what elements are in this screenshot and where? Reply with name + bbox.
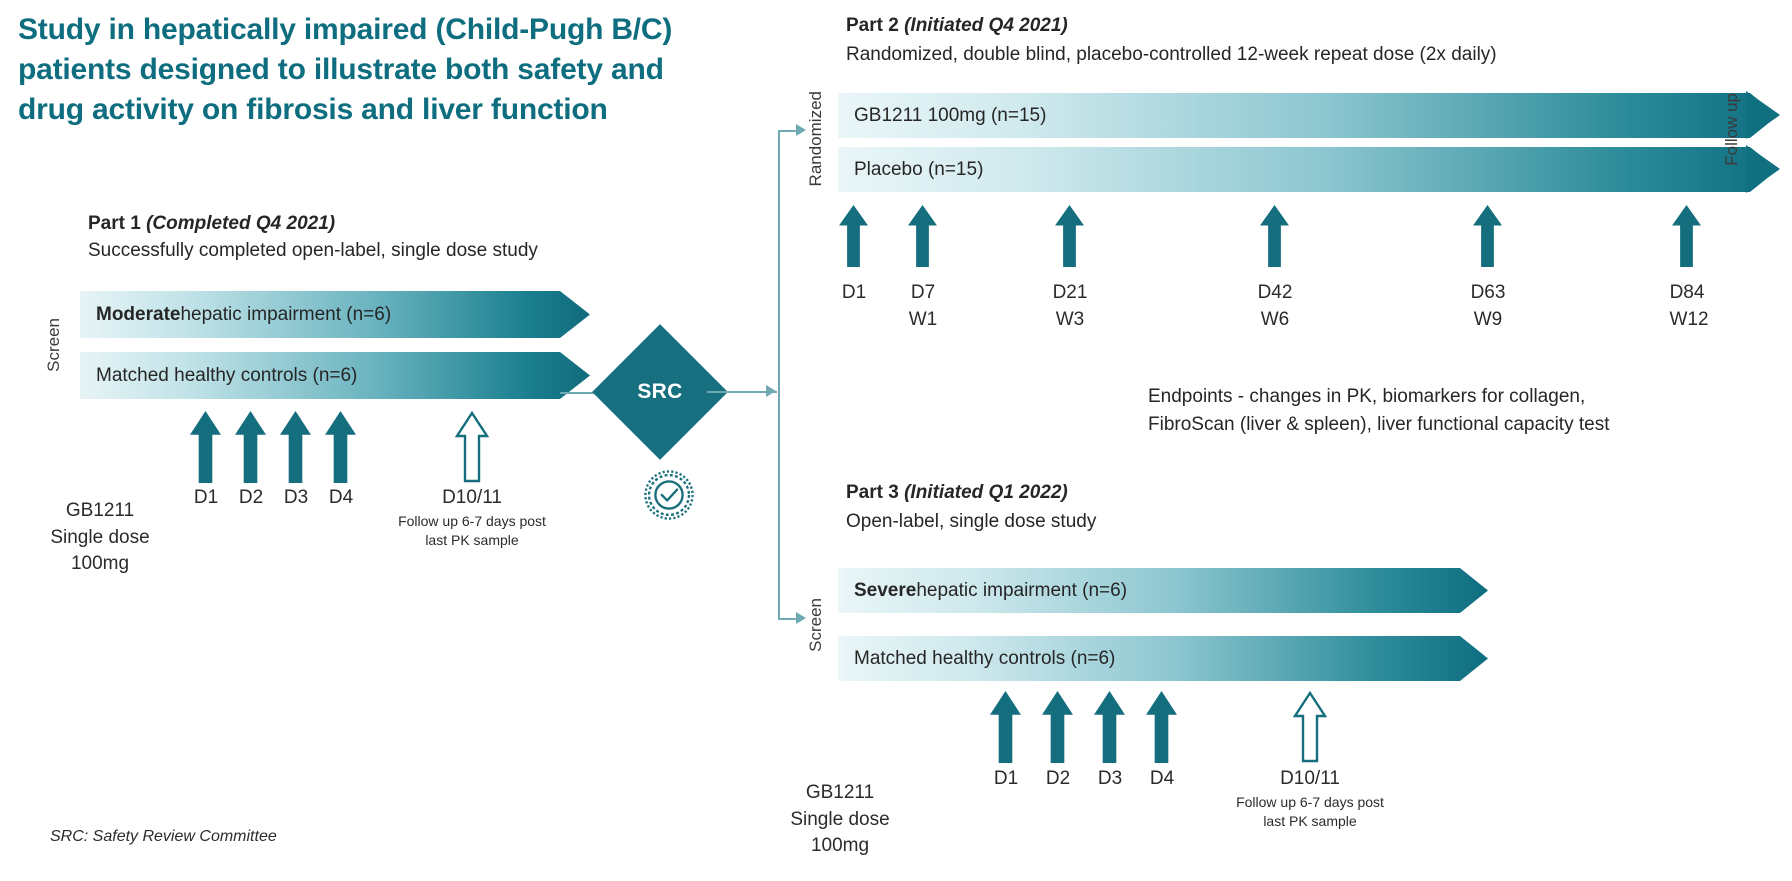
part1-followup-note-line1: Follow up 6-7 days post	[382, 512, 562, 531]
part3-arm-1-rest: Matched healthy controls (n=6)	[854, 648, 1115, 670]
part1-arm-1-rest: Matched healthy controls (n=6)	[96, 365, 357, 387]
part1-followup-note: Follow up 6-7 days post last PK sample	[382, 512, 562, 550]
part2-subtitle: Randomized, double blind, placebo-contro…	[846, 42, 1726, 68]
src-branch-arrowhead	[766, 385, 776, 397]
part2-tick-week-2: W3	[1042, 309, 1098, 331]
part1-tick-followup: D10/11	[412, 487, 532, 509]
part2-tick-week-5: W12	[1659, 309, 1719, 331]
part3-arm-bar-severe: Severe hepatic impairment (n=6)	[838, 568, 1488, 613]
branch-vertical-line	[778, 130, 780, 620]
part3-dose-line3: 100mg	[770, 833, 910, 860]
part2-followup-arrowhead-bottom	[1746, 145, 1780, 193]
part1-dose-line3: 100mg	[40, 551, 160, 578]
part3-subtitle: Open-label, single dose study	[846, 509, 1446, 535]
part3-dose-arrow-d3	[1094, 691, 1125, 763]
part1-dose-arrow-d2	[235, 411, 266, 483]
part2-dose-arrow-d84	[1672, 205, 1701, 267]
part3-dose-block: GB1211 Single dose 100mg	[770, 780, 910, 860]
part3-side-label: Screen	[806, 598, 826, 652]
src-label: SRC	[637, 380, 682, 404]
part2-tick-day-0: D1	[826, 282, 882, 304]
part1-followup-arrow	[455, 411, 489, 483]
part1-name: Part 1	[88, 213, 141, 234]
part2-tick-week-4: W9	[1460, 309, 1516, 331]
part3-name: Part 3	[846, 482, 899, 503]
part1-arm-0-rest: hepatic impairment (n=6)	[180, 304, 391, 326]
part2-endpoints-line2: FibroScan (liver & spleen), liver functi…	[1148, 411, 1768, 439]
part3-tick-d3: D3	[1084, 768, 1136, 790]
part2-side-label: Randomized	[806, 91, 826, 186]
part2-dose-arrow-d42	[1260, 205, 1289, 267]
part2-tick-day-5: D84	[1659, 282, 1715, 304]
part1-heading: Part 1 (Completed Q4 2021)	[88, 211, 608, 237]
part2-endpoints-line1: Endpoints - changes in PK, biomarkers fo…	[1148, 383, 1768, 411]
part3-followup-note: Follow up 6-7 days post last PK sample	[1220, 793, 1400, 831]
part2-tick-week-1: W1	[895, 309, 951, 331]
part3-followup-arrow	[1293, 691, 1327, 763]
part2-tick-day-2: D21	[1042, 282, 1098, 304]
part3-dose-arrow-d4	[1146, 691, 1177, 763]
check-seal-icon	[640, 466, 698, 524]
part3-tick-followup: D10/11	[1250, 768, 1370, 790]
part3-followup-note-line1: Follow up 6-7 days post	[1220, 793, 1400, 812]
part2-dose-arrow-d1	[839, 205, 868, 267]
page-title: Study in hepatically impaired (Child-Pug…	[18, 10, 678, 130]
part1-arm-bar-controls: Matched healthy controls (n=6)	[80, 352, 590, 399]
part1-arm-bar-moderate: Moderate hepatic impairment (n=6)	[80, 291, 590, 338]
branch-bottom-arrowhead	[796, 612, 806, 624]
part3-dose-line1: GB1211	[770, 780, 910, 807]
part2-followup-label: Follow up	[1722, 93, 1742, 166]
part1-dose-arrow-d1	[190, 411, 221, 483]
part2-arm-bar-gb1211: GB1211 100mg (n=15)	[838, 93, 1778, 138]
part2-tick-day-3: D42	[1247, 282, 1303, 304]
src-node[interactable]: SRC	[612, 344, 708, 440]
part3-followup-note-line2: last PK sample	[1220, 812, 1400, 831]
part3-dose-arrow-d2	[1042, 691, 1073, 763]
part1-subtitle: Successfully completed open-label, singl…	[88, 238, 648, 264]
part1-followup-note-line2: last PK sample	[382, 531, 562, 550]
part1-arm-0-bold: Moderate	[96, 304, 180, 326]
part2-followup-arrowhead-top	[1746, 91, 1780, 139]
part3-tick-d4: D4	[1136, 768, 1188, 790]
part1-dose-line2: Single dose	[40, 525, 160, 552]
part3-tick-d2: D2	[1032, 768, 1084, 790]
part3-heading: Part 3 (Initiated Q1 2022)	[846, 480, 1446, 506]
footer-note: SRC: Safety Review Committee	[50, 828, 277, 846]
part2-tick-week-3: W6	[1247, 309, 1303, 331]
part2-arm-0-rest: GB1211 100mg (n=15)	[854, 105, 1046, 127]
part2-status: (Initiated Q4 2021)	[904, 15, 1068, 36]
part1-dose-arrow-d4	[325, 411, 356, 483]
part3-status: (Initiated Q1 2022)	[904, 482, 1068, 503]
part1-tick-d4: D4	[315, 487, 367, 509]
branch-top-arrowhead	[796, 124, 806, 136]
part3-arm-0-bold: Severe	[854, 580, 916, 602]
part1-side-label: Screen	[44, 318, 64, 372]
part2-heading: Part 2 (Initiated Q4 2021)	[846, 13, 1546, 39]
part2-endpoints: Endpoints - changes in PK, biomarkers fo…	[1148, 383, 1768, 438]
part2-tick-day-1: D7	[895, 282, 951, 304]
part3-dose-line2: Single dose	[770, 807, 910, 834]
part3-arm-bar-controls: Matched healthy controls (n=6)	[838, 636, 1488, 681]
part2-name: Part 2	[846, 15, 899, 36]
src-label-wrap: SRC	[612, 344, 708, 440]
part2-arm-1-rest: Placebo (n=15)	[854, 159, 983, 181]
part2-tick-day-4: D63	[1460, 282, 1516, 304]
part2-dose-arrow-d21	[1055, 205, 1084, 267]
part1-status: (Completed Q4 2021)	[146, 213, 335, 234]
part2-arm-bar-placebo: Placebo (n=15)	[838, 147, 1778, 192]
part2-dose-arrow-d63	[1473, 205, 1502, 267]
part3-arm-0-rest: hepatic impairment (n=6)	[916, 580, 1127, 602]
part3-tick-d1: D1	[980, 768, 1032, 790]
part1-dose-arrow-d3	[280, 411, 311, 483]
part3-dose-arrow-d1	[990, 691, 1021, 763]
part2-dose-arrow-d7	[908, 205, 937, 267]
part1-dose-block: GB1211 Single dose 100mg	[40, 498, 160, 578]
part1-dose-line1: GB1211	[40, 498, 160, 525]
